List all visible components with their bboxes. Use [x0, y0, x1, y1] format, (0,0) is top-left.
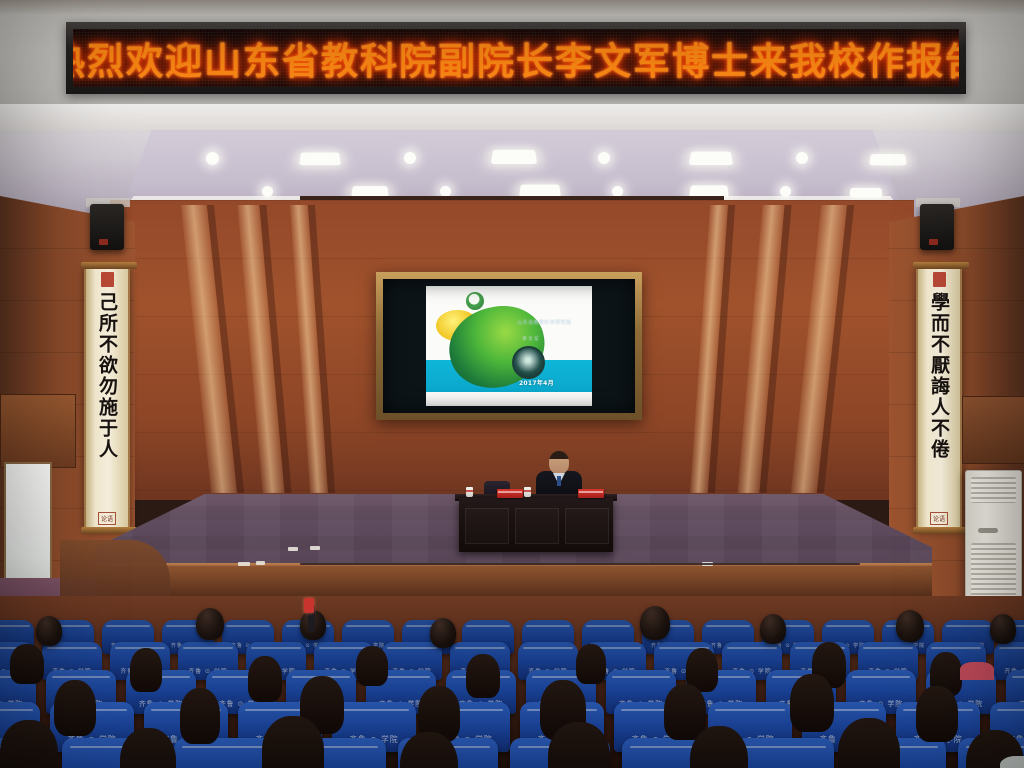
right-scroll-rod-bottom: [913, 527, 969, 534]
audience-member: [576, 644, 606, 684]
right-calligraphy-scroll: 學而不厭誨人不倦 论语: [916, 266, 962, 530]
stage-step: [60, 540, 170, 600]
audience-seat: 齐鲁 ⊙ 学院: [734, 738, 834, 768]
ceiling-downlight: [780, 186, 791, 197]
right-scroll-footer: 论语: [930, 512, 948, 525]
left-scroll-seal: [101, 272, 114, 287]
ceiling-panel-light: [491, 150, 537, 164]
ceiling-downlight: [404, 152, 416, 164]
audience-member: [130, 648, 162, 692]
auditorium-photo: 热烈欢迎山东省教科院副院长李文军博士来我校作报告 山东省教育科学研究院 李 文 …: [0, 0, 1024, 768]
phone-icon: [304, 598, 314, 613]
audience-member: [760, 614, 786, 644]
left-scroll-text: 己所不欲勿施于人: [95, 292, 119, 460]
led-banner-screen: 热烈欢迎山东省教科院副院长李文军博士来我校作报告: [73, 29, 959, 87]
stage-marker-tape: [310, 546, 320, 550]
audience-member-clothing: [1000, 756, 1024, 768]
audience-member: [664, 684, 706, 740]
projection-screen-surface: 山东省教育科学研究院 李 文 军 2017年4月: [383, 279, 635, 413]
table-panel: [515, 508, 559, 544]
projection-screen: 山东省教育科学研究院 李 文 军 2017年4月: [376, 272, 642, 420]
stage-marker-tape: [256, 561, 265, 565]
ceiling-downlight: [206, 152, 219, 165]
stage-marker-tape: [238, 562, 250, 566]
ceiling-downlight: [262, 186, 273, 197]
table-panel: [565, 508, 609, 544]
right-scroll-text: 學而不厭誨人不倦: [927, 292, 951, 460]
left-scroll-rod-top: [81, 262, 137, 269]
audience-member: [196, 608, 224, 640]
ceiling-downlight: [796, 152, 808, 164]
audience-member: [10, 644, 44, 684]
right-wall-cabinet: [962, 396, 1024, 464]
ceiling-soffit: [0, 104, 1024, 130]
name-card: [497, 489, 523, 498]
audience-member: [466, 654, 500, 698]
left-speaker-icon: [90, 204, 124, 250]
audience-member: [640, 606, 670, 640]
led-banner-text: 热烈欢迎山东省教科院副院长李文军博士来我校作报告: [73, 31, 959, 85]
left-wall-cabinet: [0, 394, 76, 468]
audience-member: [248, 656, 282, 702]
left-calligraphy-scroll: 己所不欲勿施于人 论语: [84, 266, 130, 530]
presenter-tie: [557, 476, 561, 486]
right-scroll-rod-top: [913, 262, 969, 269]
presenter-head: [549, 451, 569, 474]
screen-vignette: [383, 279, 635, 413]
name-card: [578, 489, 604, 498]
ceiling-panel-light: [299, 152, 341, 165]
ceiling-panel-light: [849, 188, 882, 198]
table-panel: [465, 508, 509, 544]
audience-member: [790, 674, 834, 732]
audience-area: 齐鲁 ⊙ 学院齐鲁 ⊙ 学院齐鲁 ⊙ 学院齐鲁 ⊙ 学院齐鲁 ⊙ 学院齐鲁 ⊙ …: [0, 596, 1024, 768]
water-cup: [466, 487, 473, 497]
ac-top-grill: [971, 477, 1016, 503]
presenter-table: [459, 498, 613, 552]
audience-member: [916, 686, 958, 742]
air-conditioner-unit: [965, 470, 1022, 612]
stage-marker-tape: [288, 547, 298, 551]
stage-cable: [300, 563, 860, 565]
ceiling-panel-light: [689, 152, 733, 165]
audience-member: [838, 718, 900, 768]
right-scroll-seal: [933, 272, 946, 287]
audience-member: [36, 616, 62, 646]
ac-badge: [978, 528, 998, 533]
audience-member: [430, 618, 456, 648]
audience-member: [356, 646, 388, 686]
audience-member: [990, 614, 1016, 644]
ceiling-downlight: [598, 152, 610, 164]
left-scroll-footer: 论语: [98, 512, 116, 525]
water-cup: [524, 487, 531, 497]
led-banner: 热烈欢迎山东省教科院副院长李文军博士来我校作报告: [66, 22, 966, 94]
ceiling-panel-light: [869, 154, 907, 165]
right-speaker-icon: [920, 204, 954, 250]
audience-member: [896, 610, 924, 642]
audience-member: [54, 680, 96, 736]
audience-member: [180, 688, 220, 744]
audience-member-clothing: [960, 662, 994, 680]
